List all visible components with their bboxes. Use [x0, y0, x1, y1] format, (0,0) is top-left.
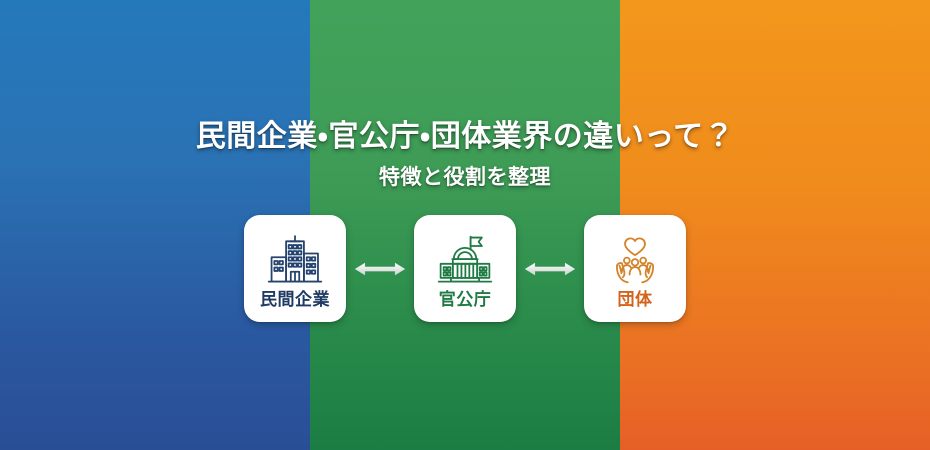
category-card-label: 官公庁	[439, 292, 492, 309]
category-card-label: 団体	[618, 292, 653, 309]
hands-heart-people-icon	[605, 232, 665, 290]
category-card-label: 民間企業	[260, 292, 330, 309]
category-card-organization[interactable]: 団体	[584, 215, 686, 322]
hero-banner: 民間企業・官公庁・団体業界の違いって？ 特徴と役割を整理	[0, 0, 930, 450]
category-card-government[interactable]: 官公庁	[414, 215, 516, 322]
category-card-row: 民間企業	[0, 215, 930, 322]
page-title: 民間企業・官公庁・団体業界の違いって？	[0, 118, 930, 156]
connector-arrow-1	[346, 261, 414, 277]
headline-block: 民間企業・官公庁・団体業界の違いって？ 特徴と役割を整理	[0, 118, 930, 190]
government-building-icon	[435, 232, 495, 290]
category-card-private-company[interactable]: 民間企業	[244, 215, 346, 322]
office-building-icon	[265, 232, 325, 290]
connector-arrow-2	[516, 261, 584, 277]
page-subtitle: 特徴と役割を整理	[0, 164, 930, 190]
double-arrow-icon	[525, 261, 575, 277]
double-arrow-icon	[355, 261, 405, 277]
